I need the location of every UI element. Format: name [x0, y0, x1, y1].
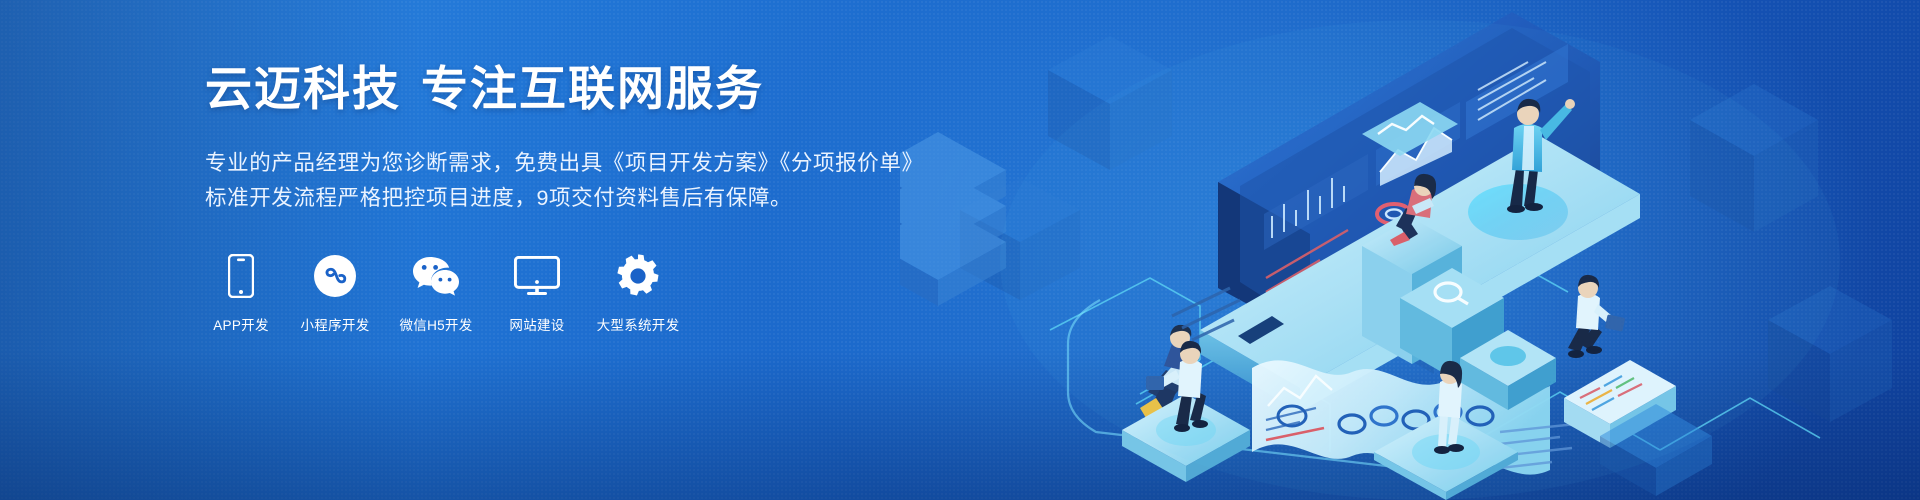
service-label-system: 大型系统开发 — [597, 314, 680, 334]
banner-content: 云迈科技专注互联网服务 专业的产品经理为您诊断需求，免费出具《项目开发方案》《分… — [205, 62, 905, 334]
service-item-mini-program[interactable]: 小程序开发 — [299, 252, 371, 334]
service-item-system[interactable]: 大型系统开发 — [595, 252, 681, 334]
mini-program-icon — [313, 252, 357, 300]
service-label-website: 网站建设 — [509, 314, 564, 334]
hero-banner: 云迈科技专注互联网服务 专业的产品经理为您诊断需求，免费出具《项目开发方案》《分… — [0, 0, 1920, 500]
service-item-app[interactable]: APP开发 — [205, 252, 277, 334]
isometric-illustration — [900, 0, 1920, 500]
service-item-wechat[interactable]: 微信H5开发 — [393, 252, 479, 334]
headline-slogan: 专注互联网服务 — [421, 62, 764, 115]
subtitle-line-2: 标准开发流程严格把控项目进度，9项交付资料售后有保障。 — [205, 181, 905, 216]
subtitle: 专业的产品经理为您诊断需求，免费出具《项目开发方案》《分项报价单》标准开发流程严… — [205, 146, 905, 216]
monitor-icon — [514, 252, 560, 300]
page-title: 云迈科技专注互联网服务 — [205, 62, 905, 116]
service-label-app: APP开发 — [213, 314, 269, 334]
gear-icon — [616, 252, 660, 300]
wechat-icon — [412, 252, 460, 300]
service-icon-row: APP开发 小程序开发 — [205, 252, 905, 334]
service-item-website[interactable]: 网站建设 — [501, 252, 573, 334]
subtitle-line-1: 专业的产品经理为您诊断需求，免费出具《项目开发方案》《分项报价单》 — [205, 151, 924, 175]
service-label-wechat: 微信H5开发 — [399, 314, 472, 334]
headline-brand: 云迈科技 — [205, 62, 401, 115]
service-label-mini-program: 小程序开发 — [301, 314, 370, 334]
mobile-phone-icon — [228, 252, 254, 300]
